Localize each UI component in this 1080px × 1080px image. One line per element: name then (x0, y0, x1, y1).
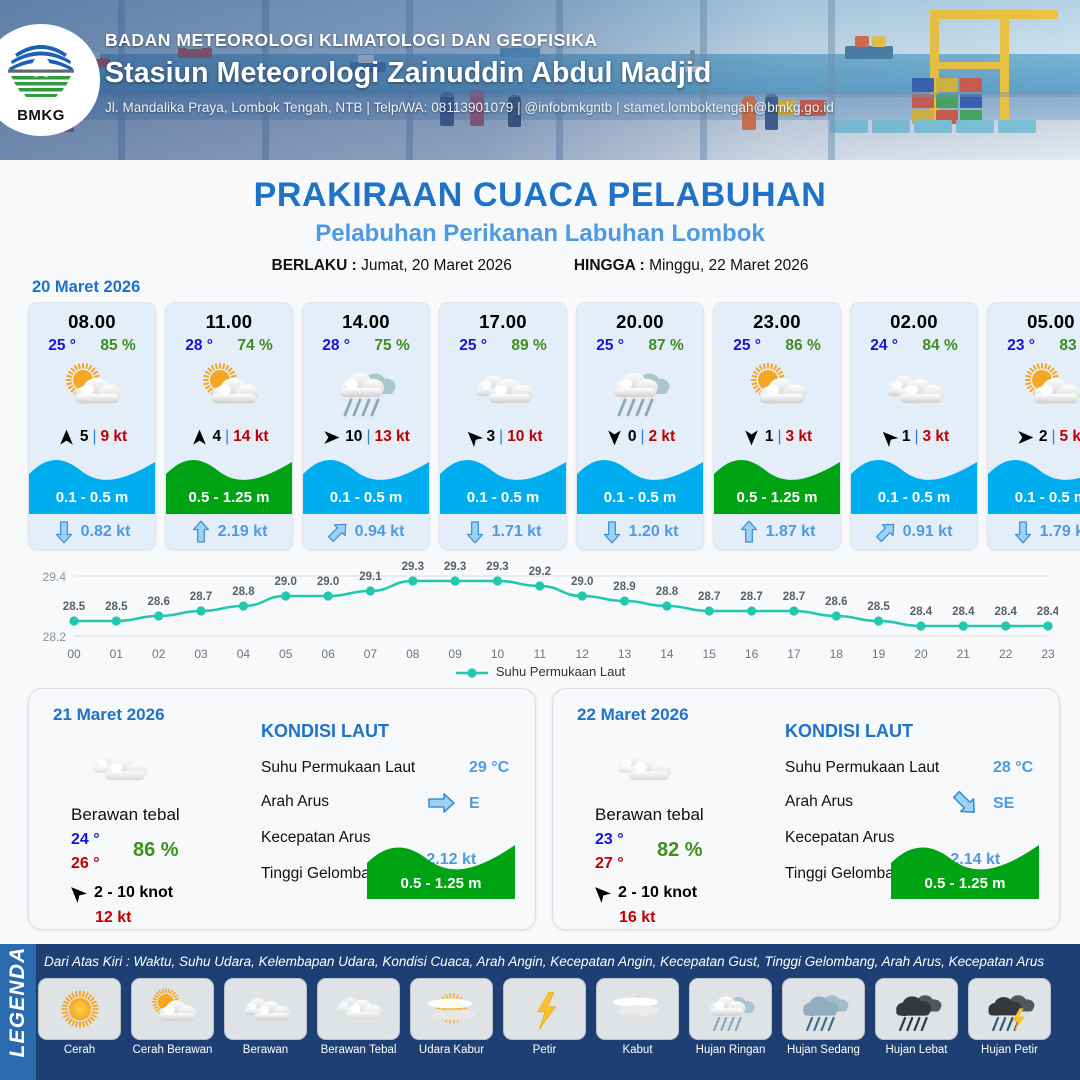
card-wind-value: 4 (213, 428, 222, 446)
weather-icon-cerah (52, 986, 108, 1032)
card-temperature: 25 ° (459, 337, 487, 355)
card-humidity: 74 % (237, 337, 272, 355)
card-time: 11.00 (166, 303, 292, 333)
card-wind-value: 1 (902, 428, 911, 446)
daily-wave-label: 0.5 - 1.25 m (891, 875, 1039, 892)
daily-condition: Berawan tebal (595, 805, 704, 825)
daily-wave: 0.5 - 1.25 m (891, 837, 1039, 899)
card-wave: 0.1 - 0.5 m (851, 452, 977, 514)
card-wind-row: 10|13 kt (303, 422, 429, 452)
svg-text:17: 17 (787, 647, 801, 661)
current-direction-icon-N (191, 520, 211, 544)
card-wave: 0.1 - 0.5 m (577, 452, 703, 514)
legend-icon-box (968, 978, 1051, 1040)
card-current-speed: 0.82 kt (81, 523, 131, 541)
card-temperature: 24 ° (870, 337, 898, 355)
hourly-card: 11.0028 °74 %4|14 kt0.5 - 1.25 m2.19 kt (165, 302, 293, 550)
svg-text:28.7: 28.7 (190, 591, 212, 603)
legend-icon-box (782, 978, 865, 1040)
current-direction-icon-NE (876, 520, 896, 544)
card-weather-icon (29, 356, 155, 422)
sea-row-value: SE (993, 795, 1014, 812)
card-humidity: 89 % (511, 337, 546, 355)
legend-item: Cerah (38, 978, 121, 1056)
legend-side-strip: LEGENDA (0, 944, 36, 1080)
card-temperature: 28 ° (322, 337, 350, 355)
svg-text:05: 05 (279, 647, 293, 661)
daily-humidity: 86 % (133, 839, 179, 862)
legend-item: Hujan Sedang (782, 978, 865, 1056)
card-current-row: 1.79 kt (988, 514, 1080, 549)
svg-text:14: 14 (660, 647, 674, 661)
card-wind-value: 3 (487, 428, 496, 446)
weather-icon-berawan-tebal (611, 741, 678, 796)
hourly-card: 08.0025 °85 %5|9 kt0.1 - 0.5 m0.82 kt (28, 302, 156, 550)
card-current-row: 0.82 kt (29, 514, 155, 549)
legend-icon-box (317, 978, 400, 1040)
legend-item-label: Hujan Petir (968, 1044, 1051, 1056)
svg-text:28.5: 28.5 (105, 601, 128, 613)
card-wind-value: 1 (765, 428, 774, 446)
header-banner: BMKG BADAN METEOROLOGI KLIMATOLOGI DAN G… (0, 0, 1080, 160)
svg-text:29.0: 29.0 (317, 576, 339, 588)
legend-icon-box (689, 978, 772, 1040)
card-current-speed: 1.79 kt (1040, 523, 1080, 541)
daily-wave-label: 0.5 - 1.25 m (367, 875, 515, 892)
legend-item-label: Cerah Berawan (131, 1044, 214, 1056)
card-humidity: 83 % (1059, 337, 1080, 355)
card-wind-row: 5|9 kt (29, 422, 155, 452)
legend-item-label: Udara Kabur (410, 1044, 493, 1056)
card-weather-icon (988, 356, 1080, 422)
svg-text:15: 15 (703, 647, 717, 661)
svg-text:29.3: 29.3 (444, 561, 466, 573)
legend-item: Petir (503, 978, 586, 1056)
chart-legend-label: Suhu Permukaan Laut (496, 664, 625, 679)
daily-gust: 12 kt (95, 909, 131, 927)
card-wind-separator: | (366, 428, 370, 446)
daily-temp-min: 24 ° (71, 831, 100, 849)
legend-item-label: Hujan Sedang (782, 1044, 865, 1056)
weather-icon-berawan (238, 986, 294, 1032)
sea-row-label: Arah Arus (261, 793, 329, 811)
card-time: 02.00 (851, 303, 977, 333)
legend-item-label: Kabut (596, 1044, 679, 1056)
svg-text:28.6: 28.6 (825, 596, 847, 608)
svg-text:28.8: 28.8 (656, 586, 679, 598)
weather-icon-hujan-lebat (889, 986, 945, 1032)
card-wind-separator: | (777, 428, 781, 446)
sea-condition-title: KONDISI LAUT (261, 721, 389, 742)
svg-text:00: 00 (67, 647, 81, 661)
weather-icon-kabut (610, 986, 666, 1032)
weather-icon-berawan (468, 360, 538, 418)
card-humidity: 86 % (785, 337, 820, 355)
sea-row-label: Arah Arus (785, 793, 853, 811)
svg-text:29.3: 29.3 (486, 561, 508, 573)
card-wave-label: 0.1 - 0.5 m (851, 489, 977, 506)
valid-until-label: HINGGA : (574, 257, 645, 274)
legend-item-label: Petir (503, 1044, 586, 1056)
svg-text:28.2: 28.2 (43, 630, 67, 644)
card-current-speed: 0.91 kt (903, 523, 953, 541)
card-current-speed: 1.87 kt (766, 523, 816, 541)
card-wind-row: 4|14 kt (166, 422, 292, 452)
legend-item: Berawan (224, 978, 307, 1056)
card-gust: 13 kt (374, 428, 409, 446)
svg-text:19: 19 (872, 647, 886, 661)
card-current-row: 0.94 kt (303, 514, 429, 549)
wind-direction-icon-S (742, 428, 761, 447)
daily-wind-range: 2 - 10 knot (618, 884, 697, 902)
card-wave-label: 0.1 - 0.5 m (577, 489, 703, 506)
legend-icon-box (224, 978, 307, 1040)
valid-from-value: Jumat, 20 Maret 2026 (361, 257, 512, 274)
card-weather-icon (577, 356, 703, 422)
wind-direction-icon-N (57, 428, 76, 447)
wind-direction-icon-NW (591, 883, 611, 903)
hourly-card: 05.0023 °83 %2|5 kt0.1 - 0.5 m1.79 kt (987, 302, 1080, 550)
card-wind-separator: | (499, 428, 503, 446)
svg-text:28.8: 28.8 (232, 586, 255, 598)
card-wind-separator: | (92, 428, 96, 446)
validity-row: BERLAKU : Jumat, 20 Maret 2026 HINGGA : … (0, 257, 1080, 275)
card-current-row: 1.20 kt (577, 514, 703, 549)
svg-text:28.9: 28.9 (613, 581, 635, 593)
svg-text:08: 08 (406, 647, 420, 661)
current-direction-icon-NE (328, 520, 348, 544)
card-current-speed: 1.71 kt (492, 523, 542, 541)
card-current-row: 2.19 kt (166, 514, 292, 549)
svg-text:07: 07 (364, 647, 378, 661)
current-direction-icon-E (425, 789, 457, 822)
legend-item: Hujan Lebat (875, 978, 958, 1056)
svg-text:02: 02 (152, 647, 166, 661)
valid-until: HINGGA : Minggu, 22 Maret 2026 (574, 257, 809, 275)
card-wave: 0.5 - 1.25 m (166, 452, 292, 514)
legend-item-label: Hujan Ringan (689, 1044, 772, 1056)
svg-text:28.7: 28.7 (783, 591, 805, 603)
card-weather-icon (303, 356, 429, 422)
card-gust: 3 kt (922, 428, 949, 446)
current-direction-icon-S (1013, 520, 1033, 544)
station-name: Stasiun Meteorologi Zainuddin Abdul Madj… (105, 57, 834, 90)
svg-text:12: 12 (576, 647, 590, 661)
svg-text:28.5: 28.5 (63, 601, 86, 613)
legend-icon-box (503, 978, 586, 1040)
daily-wind-range: 2 - 10 knot (94, 884, 173, 902)
legend-note: Dari Atas Kiri : Waktu, Suhu Udara, Kele… (44, 954, 1044, 969)
svg-text:29.0: 29.0 (571, 576, 593, 588)
svg-text:16: 16 (745, 647, 759, 661)
card-wave-label: 0.5 - 1.25 m (166, 489, 292, 506)
chart-legend-marker (455, 667, 489, 679)
weather-icon-cerah-berawan (145, 986, 201, 1032)
card-time: 17.00 (440, 303, 566, 333)
card-time: 14.00 (303, 303, 429, 333)
current-direction-icon-S (465, 520, 485, 544)
svg-text:03: 03 (194, 647, 208, 661)
svg-text:29.0: 29.0 (275, 576, 297, 588)
legend-icon-box (875, 978, 958, 1040)
hourly-card: 23.0025 °86 %1|3 kt0.5 - 1.25 m1.87 kt (713, 302, 841, 550)
sea-row-value: E (469, 795, 480, 812)
svg-text:21: 21 (957, 647, 971, 661)
sea-row-value: 29 °C (469, 759, 509, 777)
valid-until-value: Minggu, 22 Maret 2026 (649, 257, 808, 274)
card-wave: 0.1 - 0.5 m (303, 452, 429, 514)
weather-icon-petir (517, 986, 573, 1032)
legend-title: LEGENDA (6, 942, 30, 1062)
svg-text:20: 20 (914, 647, 928, 661)
wind-direction-icon-E (1016, 428, 1035, 447)
hourly-card: 20.0025 °87 %0|2 kt0.1 - 0.5 m1.20 kt (576, 302, 704, 550)
legend-item: Hujan Ringan (689, 978, 772, 1056)
weather-icon-berawan-tebal (331, 986, 387, 1032)
weather-icon-cerah-berawan (194, 360, 264, 418)
legend-item-label: Berawan Tebal (317, 1044, 400, 1056)
sea-condition-title: KONDISI LAUT (785, 721, 913, 742)
card-wind-row: 3|10 kt (440, 422, 566, 452)
sea-row-label: Kecepatan Arus (785, 829, 894, 847)
legend-item: Kabut (596, 978, 679, 1056)
current-direction-icon-N (739, 520, 759, 544)
svg-text:18: 18 (830, 647, 844, 661)
daily-weather-icon (87, 741, 154, 801)
card-current-speed: 1.20 kt (629, 523, 679, 541)
card-gust: 3 kt (785, 428, 812, 446)
card-temperature: 28 ° (185, 337, 213, 355)
weather-icon-cerah-berawan (57, 360, 127, 418)
daily-forecast-row: 21 Maret 2026Berawan tebal24 °26 °86 %2 … (28, 688, 1060, 930)
hourly-card: 14.0028 °75 %10|13 kt0.1 - 0.5 m0.94 kt (302, 302, 430, 550)
legend-item: Cerah Berawan (131, 978, 214, 1056)
card-gust: 2 kt (648, 428, 675, 446)
legend-item: Hujan Petir (968, 978, 1051, 1056)
svg-text:29.3: 29.3 (402, 561, 424, 573)
card-temperature: 25 ° (596, 337, 624, 355)
card-humidity: 84 % (922, 337, 957, 355)
card-wind-separator: | (640, 428, 644, 446)
card-time: 08.00 (29, 303, 155, 333)
card-wave: 0.5 - 1.25 m (714, 452, 840, 514)
agency-name: BADAN METEOROLOGI KLIMATOLOGI DAN GEOFIS… (105, 30, 834, 51)
wind-direction-icon-NW (464, 428, 483, 447)
daily-panel: 21 Maret 2026Berawan tebal24 °26 °86 %2 … (28, 688, 536, 930)
weather-icon-udara-kabur (424, 986, 480, 1032)
legend-item-label: Berawan (224, 1044, 307, 1056)
contact-line: Jl. Mandalika Praya, Lombok Tengah, NTB … (105, 100, 834, 115)
current-direction-icon-SE (949, 789, 981, 822)
weather-icon-berawan-tebal (87, 741, 154, 796)
svg-text:28.4: 28.4 (910, 606, 933, 618)
weather-icon-hujan-petir (982, 986, 1038, 1032)
svg-text:28.7: 28.7 (740, 591, 762, 603)
sea-row-label: Kecepatan Arus (261, 829, 370, 847)
card-temperature: 25 ° (48, 337, 76, 355)
card-wind-row: 0|2 kt (577, 422, 703, 452)
sea-row-label: Suhu Permukaan Laut (785, 759, 939, 777)
card-current-speed: 0.94 kt (355, 523, 405, 541)
legend-item-label: Hujan Lebat (875, 1044, 958, 1056)
card-wind-separator: | (225, 428, 229, 446)
svg-text:28.5: 28.5 (867, 601, 890, 613)
card-wind-value: 5 (80, 428, 89, 446)
legend-icon-box (410, 978, 493, 1040)
svg-text:28.6: 28.6 (148, 596, 170, 608)
card-gust: 14 kt (233, 428, 268, 446)
card-gust: 10 kt (507, 428, 542, 446)
legend-item-label: Cerah (38, 1044, 121, 1056)
card-wave-label: 0.1 - 0.5 m (29, 489, 155, 506)
svg-text:29.1: 29.1 (359, 571, 382, 583)
svg-text:28.4: 28.4 (995, 606, 1018, 618)
weather-icon-hujan-ringan (703, 986, 759, 1032)
wind-direction-icon-S (605, 428, 624, 447)
daily-humidity: 82 % (657, 839, 703, 862)
wind-direction-icon-N (190, 428, 209, 447)
card-current-row: 0.91 kt (851, 514, 977, 549)
bmkg-logo-text: BMKG (1, 107, 81, 124)
card-wave: 0.1 - 0.5 m (988, 452, 1080, 514)
card-gust: 9 kt (100, 428, 127, 446)
card-temperature: 25 ° (733, 337, 761, 355)
weather-icon-hujan-ringan (331, 360, 401, 418)
chart-legend: Suhu Permukaan Laut (0, 664, 1080, 679)
hourly-card: 17.0025 °89 %3|10 kt0.1 - 0.5 m1.71 kt (439, 302, 567, 550)
weather-icon-berawan (879, 360, 949, 418)
daily-gust: 16 kt (619, 909, 655, 927)
svg-text:06: 06 (321, 647, 335, 661)
card-humidity: 87 % (648, 337, 683, 355)
card-wind-row: 1|3 kt (714, 422, 840, 452)
card-wind-separator: | (1051, 428, 1055, 446)
weather-icon-cerah-berawan (742, 360, 812, 418)
hourly-forecast-row: 08.0025 °85 %5|9 kt0.1 - 0.5 m0.82 kt11.… (28, 302, 1080, 550)
page-title: PRAKIRAAN CUACA PELABUHAN (0, 176, 1080, 215)
card-time: 20.00 (577, 303, 703, 333)
legend-section: LEGENDA Dari Atas Kiri : Waktu, Suhu Uda… (0, 944, 1080, 1080)
svg-text:22: 22 (999, 647, 1013, 661)
card-wind-value: 10 (345, 428, 362, 446)
sea-row-value-wrap: E (469, 795, 480, 813)
daily-wind-row: 2 - 10 knot (67, 883, 173, 903)
card-wind-value: 0 (628, 428, 637, 446)
card-wave-label: 0.5 - 1.25 m (714, 489, 840, 506)
hourly-date-label: 20 Maret 2026 (32, 278, 140, 297)
current-direction-icon-S (602, 520, 622, 544)
card-humidity: 85 % (100, 337, 135, 355)
svg-text:11: 11 (534, 647, 547, 661)
card-gust: 5 kt (1059, 428, 1080, 446)
svg-text:28.7: 28.7 (698, 591, 720, 603)
valid-from-label: BERLAKU : (272, 257, 357, 274)
daily-weather-icon (611, 741, 678, 801)
daily-wind-row: 2 - 10 knot (591, 883, 697, 903)
card-current-row: 1.71 kt (440, 514, 566, 549)
daily-condition: Berawan tebal (71, 805, 180, 825)
daily-date: 21 Maret 2026 (53, 705, 165, 725)
card-time: 05.00 (988, 303, 1080, 333)
sea-row-value-wrap: SE (993, 795, 1014, 813)
wind-direction-icon-E (322, 428, 341, 447)
card-wave: 0.1 - 0.5 m (29, 452, 155, 514)
legend-item: Udara Kabur (410, 978, 493, 1056)
weather-icon-hujan-sedang (796, 986, 852, 1032)
current-direction-icon-S (54, 520, 74, 544)
card-current-row: 1.87 kt (714, 514, 840, 549)
card-current-speed: 2.19 kt (218, 523, 268, 541)
bmkg-logo-mark (7, 38, 75, 100)
card-wind-row: 2|5 kt (988, 422, 1080, 452)
daily-wave: 0.5 - 1.25 m (367, 837, 515, 899)
card-weather-icon (851, 356, 977, 422)
card-wind-value: 2 (1039, 428, 1048, 446)
legend-icon-box (38, 978, 121, 1040)
hourly-card: 02.0024 °84 %1|3 kt0.1 - 0.5 m0.91 kt (850, 302, 978, 550)
svg-text:28.4: 28.4 (1037, 606, 1058, 618)
daily-date: 22 Maret 2026 (577, 705, 689, 725)
sea-row-label: Suhu Permukaan Laut (261, 759, 415, 777)
daily-temp-max: 27 ° (595, 855, 624, 873)
daily-temp-max: 26 ° (71, 855, 100, 873)
wind-direction-icon-NW (879, 428, 898, 447)
card-time: 23.00 (714, 303, 840, 333)
card-humidity: 75 % (374, 337, 409, 355)
weather-icon-cerah-berawan (1016, 360, 1080, 418)
card-wave-label: 0.1 - 0.5 m (988, 489, 1080, 506)
card-wave: 0.1 - 0.5 m (440, 452, 566, 514)
card-weather-icon (166, 356, 292, 422)
card-temperature: 23 ° (1007, 337, 1035, 355)
sea-row-value: 28 °C (993, 759, 1033, 777)
valid-from: BERLAKU : Jumat, 20 Maret 2026 (272, 257, 512, 275)
daily-panel: 22 Maret 2026Berawan tebal23 °27 °82 %2 … (552, 688, 1060, 930)
svg-text:29.4: 29.4 (43, 570, 67, 584)
card-weather-icon (440, 356, 566, 422)
legend-icon-box (596, 978, 679, 1040)
weather-icon-hujan-ringan (605, 360, 675, 418)
svg-text:23: 23 (1041, 647, 1055, 661)
legend-item: Berawan Tebal (317, 978, 400, 1056)
legend-icon-box (131, 978, 214, 1040)
card-weather-icon (714, 356, 840, 422)
svg-text:04: 04 (237, 647, 251, 661)
svg-text:13: 13 (618, 647, 632, 661)
svg-text:01: 01 (110, 647, 124, 661)
svg-text:29.2: 29.2 (529, 566, 551, 578)
daily-temp-min: 23 ° (595, 831, 624, 849)
card-wind-row: 1|3 kt (851, 422, 977, 452)
wind-direction-icon-NW (67, 883, 87, 903)
card-wave-label: 0.1 - 0.5 m (303, 489, 429, 506)
page-subtitle: Pelabuhan Perikanan Labuhan Lombok (0, 220, 1080, 248)
legend-items: CerahCerah BerawanBerawanBerawan TebalUd… (38, 978, 1051, 1056)
svg-text:28.4: 28.4 (952, 606, 975, 618)
svg-text:10: 10 (491, 647, 505, 661)
card-wave-label: 0.1 - 0.5 m (440, 489, 566, 506)
svg-text:09: 09 (448, 647, 462, 661)
card-wind-separator: | (914, 428, 918, 446)
